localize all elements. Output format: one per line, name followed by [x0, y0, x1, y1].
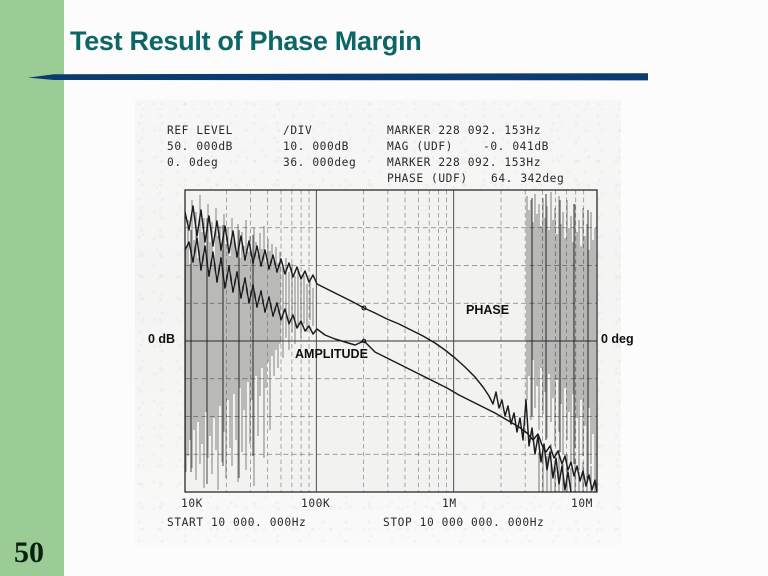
readout-marker-freq-1: MARKER 228 092. 153Hz — [387, 124, 541, 137]
annotation-zero-deg: 0 deg — [601, 332, 634, 346]
annotation-amplitude: AMPLITUDE — [295, 347, 368, 361]
scanned-analyzer-plot: REF LEVEL 50. 000dB 0. 0deg /DIV 10. 000… — [135, 100, 621, 546]
x-axis-labels: 10K 100K 1M 10M START 10 000. 000Hz STOP… — [167, 497, 593, 529]
readout-ref-level-header: REF LEVEL — [167, 124, 233, 137]
readout-div-mag: 10. 000dB — [283, 140, 349, 153]
slide-number: 50 — [8, 536, 64, 570]
readout-div-header: /DIV — [283, 124, 312, 137]
page-title: Test Result of Phase Margin — [70, 26, 421, 57]
annotation-phase: PHASE — [466, 303, 509, 317]
readout-mag-udf-label: MAG (UDF) — [387, 140, 453, 153]
readout-phase-udf-value: 64. 342deg — [491, 172, 564, 185]
readout-mag-udf-value: -0. 041dB — [483, 140, 549, 153]
x-tick-10m: 10M — [571, 497, 593, 510]
readout-div-phase: 36. 000deg — [283, 156, 356, 169]
readout-marker-freq-2: MARKER 228 092. 153Hz — [387, 156, 541, 169]
readout-ref-level-mag: 50. 000dB — [167, 140, 233, 153]
readout-ref-level-phase: 0. 0deg — [167, 156, 218, 169]
readout-phase-udf-label: PHASE (UDF) — [387, 172, 468, 185]
sweep-stop-label: STOP 10 000 000. 000Hz — [383, 516, 544, 529]
annotation-zero-db: 0 dB — [148, 332, 175, 346]
slide-accent-band — [0, 0, 64, 576]
x-tick-1m: 1M — [442, 497, 457, 510]
analyzer-plot-graphic: REF LEVEL 50. 000dB 0. 0deg /DIV 10. 000… — [135, 100, 621, 546]
presentation-slide: 50 Test Result of Phase Margin REF LEVEL… — [0, 0, 768, 576]
title-divider-rule — [28, 72, 648, 82]
x-tick-10k: 10K — [181, 497, 203, 510]
instrument-readout-block: REF LEVEL 50. 000dB 0. 0deg /DIV 10. 000… — [167, 124, 564, 185]
sweep-start-label: START 10 000. 000Hz — [167, 516, 306, 529]
x-tick-100k: 100K — [301, 497, 330, 510]
